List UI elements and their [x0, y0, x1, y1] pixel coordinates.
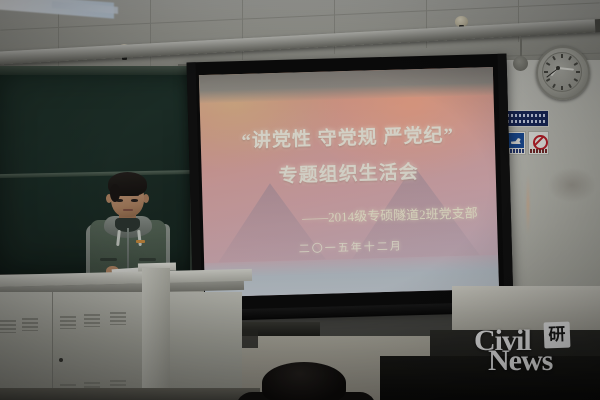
presenter-mouth — [123, 209, 133, 211]
clock-center-pin — [556, 66, 560, 70]
wall-disc — [513, 56, 528, 71]
desk-panel-seam — [52, 292, 53, 400]
foreground-dark-area — [380, 356, 600, 400]
presentation-slide: “讲党性 守党规 严党纪” 专题组织生活会 ——2014级专硕隧道2班党支部 二… — [199, 67, 499, 297]
blackboard-top-trim — [0, 66, 206, 75]
lecture-desk-front-panel — [0, 292, 242, 400]
wall-hook — [520, 38, 522, 58]
jacket-logo-tag — [136, 240, 145, 243]
wall-smudge — [548, 168, 596, 202]
sign-caption-text — [530, 149, 547, 153]
roller-end-cap — [595, 18, 600, 32]
presenter-hair — [108, 172, 147, 196]
audience-head — [262, 362, 346, 400]
desk-right — [452, 286, 600, 334]
wall-clock — [536, 46, 590, 100]
slide-subtitle: 专题组织生活会 — [201, 155, 496, 190]
accessibility-icon — [507, 133, 524, 148]
sign-caption-text — [507, 149, 524, 153]
prohibition-sign — [528, 131, 549, 155]
classroom-photo: “讲党性 守党规 严党纪” 专题组织生活会 ——2014级专硕隧道2班党支部 二… — [0, 0, 600, 400]
clock-face — [542, 52, 582, 92]
slide-title: “讲党性 守党规 严党纪” — [200, 119, 495, 154]
presenter-pocket — [100, 258, 117, 261]
lectern — [142, 268, 170, 400]
presenter-pocket — [139, 258, 156, 261]
foreground-desk-edge — [0, 388, 260, 400]
desk-door-knob[interactable] — [59, 358, 63, 362]
notice-sign — [503, 110, 549, 127]
light-reflection-streak-secondary — [527, 175, 529, 235]
